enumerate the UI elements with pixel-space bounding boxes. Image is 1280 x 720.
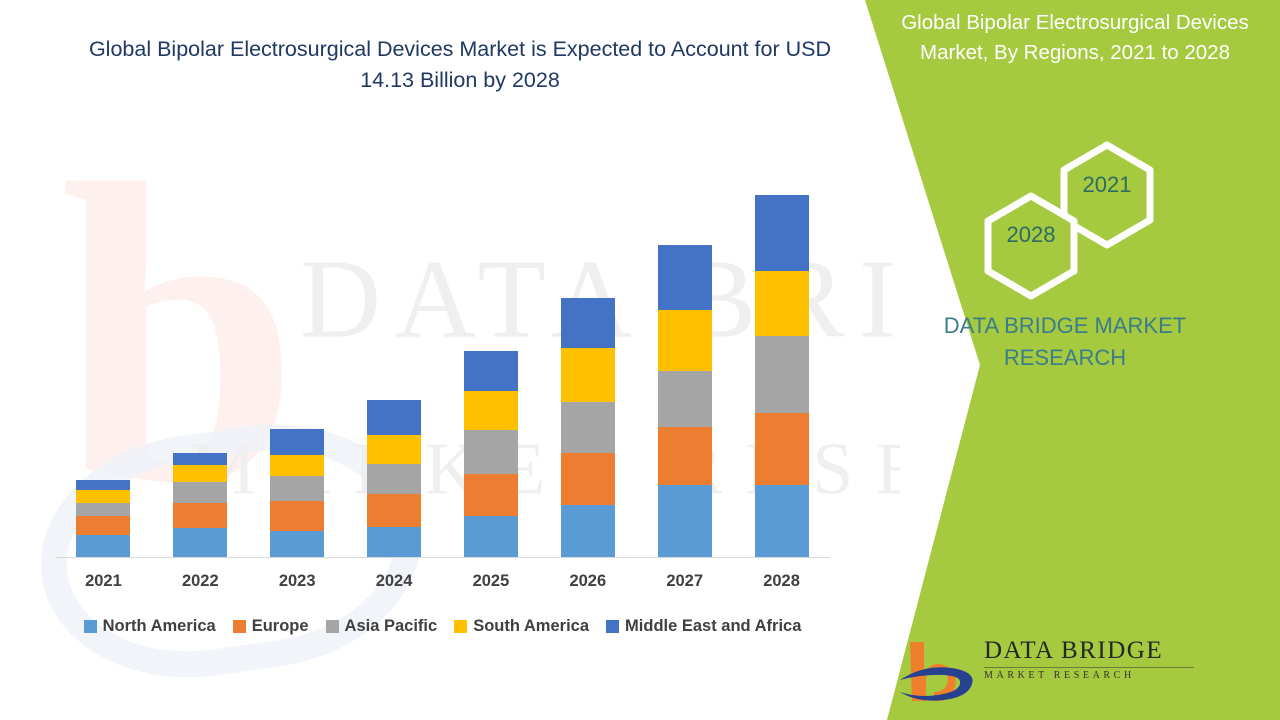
bar-slot xyxy=(249,183,346,557)
x-axis-tick-label: 2027 xyxy=(636,572,733,591)
bar-segment[interactable] xyxy=(561,505,615,558)
stacked-bar[interactable] xyxy=(464,351,518,557)
bar-slot xyxy=(152,183,249,557)
logo-divider xyxy=(984,667,1194,668)
bar-segment[interactable] xyxy=(561,402,615,453)
bar-slot xyxy=(733,183,830,557)
legend-swatch-icon xyxy=(326,620,339,633)
logo-main-text: DATA BRIDGE xyxy=(984,638,1194,664)
legend-item[interactable]: South America xyxy=(454,617,589,636)
x-axis-labels: 20212022202320242025202620272028 xyxy=(55,572,830,591)
bar-segment[interactable] xyxy=(658,310,712,371)
bar-segment[interactable] xyxy=(755,413,809,485)
stacked-bar-plot xyxy=(55,183,830,557)
bar-segment[interactable] xyxy=(561,348,615,403)
bar-segment[interactable] xyxy=(173,503,227,527)
bar-segment[interactable] xyxy=(76,480,130,490)
stacked-bar[interactable] xyxy=(561,298,615,557)
bar-segment[interactable] xyxy=(561,298,615,348)
x-axis-tick-label: 2023 xyxy=(249,572,346,591)
logo-mark-icon xyxy=(896,634,982,704)
bar-segment[interactable] xyxy=(270,429,324,454)
legend-swatch-icon xyxy=(84,620,97,633)
bar-segment[interactable] xyxy=(658,371,712,427)
x-axis-tick-label: 2021 xyxy=(55,572,152,591)
bar-segment[interactable] xyxy=(367,464,421,494)
bar-segment[interactable] xyxy=(658,427,712,485)
legend-swatch-icon xyxy=(233,620,246,633)
legend-label: Asia Pacific xyxy=(345,617,438,636)
logo-wordmark: DATA BRIDGE MARKET RESEARCH xyxy=(984,638,1194,681)
bar-segment[interactable] xyxy=(367,435,421,463)
legend-label: North America xyxy=(103,617,216,636)
bar-slot xyxy=(539,183,636,557)
bar-segment[interactable] xyxy=(658,485,712,557)
legend-item[interactable]: Middle East and Africa xyxy=(606,617,801,636)
legend-item[interactable]: Europe xyxy=(233,617,309,636)
bar-slot xyxy=(346,183,443,557)
bar-segment[interactable] xyxy=(76,503,130,517)
x-axis-line xyxy=(55,557,830,558)
bar-segment[interactable] xyxy=(76,516,130,534)
bar-segment[interactable] xyxy=(173,482,227,504)
hexagon-2028-label: 2028 xyxy=(986,222,1076,248)
legend-item[interactable]: North America xyxy=(84,617,216,636)
bar-segment[interactable] xyxy=(270,501,324,530)
stacked-bar[interactable] xyxy=(270,429,324,557)
x-axis-tick-label: 2022 xyxy=(152,572,249,591)
bar-segment[interactable] xyxy=(464,351,518,391)
legend-label: South America xyxy=(473,617,589,636)
bar-slot xyxy=(443,183,540,557)
chart-title: Global Bipolar Electrosurgical Devices M… xyxy=(60,34,860,95)
chart-legend: North AmericaEuropeAsia PacificSouth Ame… xyxy=(55,617,830,636)
legend-label: Middle East and Africa xyxy=(625,617,801,636)
stacked-bar[interactable] xyxy=(173,453,227,557)
logo-sub-text: MARKET RESEARCH xyxy=(984,670,1194,681)
bar-segment[interactable] xyxy=(270,476,324,501)
bar-segment[interactable] xyxy=(755,336,809,413)
legend-label: Europe xyxy=(252,617,309,636)
stacked-bar[interactable] xyxy=(755,195,809,557)
legend-swatch-icon xyxy=(454,620,467,633)
bar-segment[interactable] xyxy=(464,430,518,474)
data-bridge-logo: DATA BRIDGE MARKET RESEARCH xyxy=(896,634,1196,704)
bar-segment[interactable] xyxy=(755,271,809,336)
bar-segment[interactable] xyxy=(464,516,518,557)
x-axis-tick-label: 2025 xyxy=(443,572,540,591)
bar-segment[interactable] xyxy=(76,490,130,503)
stacked-bar[interactable] xyxy=(76,480,130,557)
hexagon-2021-label: 2021 xyxy=(1062,172,1152,198)
stacked-bar[interactable] xyxy=(367,400,421,557)
bar-segment[interactable] xyxy=(173,528,227,557)
bar-segment[interactable] xyxy=(367,400,421,435)
stacked-bar[interactable] xyxy=(658,245,712,557)
bar-segment[interactable] xyxy=(367,527,421,557)
bar-segment[interactable] xyxy=(76,535,130,557)
bar-segment[interactable] xyxy=(173,453,227,465)
bar-segment[interactable] xyxy=(755,195,809,271)
bar-segment[interactable] xyxy=(561,453,615,504)
x-axis-tick-label: 2024 xyxy=(346,572,443,591)
bar-segment[interactable] xyxy=(658,245,712,310)
legend-swatch-icon xyxy=(606,620,619,633)
bar-segment[interactable] xyxy=(755,485,809,557)
legend-item[interactable]: Asia Pacific xyxy=(326,617,438,636)
panel-brand-text: DATA BRIDGE MARKET RESEARCH xyxy=(880,310,1250,374)
x-axis-tick-label: 2028 xyxy=(733,572,830,591)
bar-segment[interactable] xyxy=(464,474,518,516)
right-panel-content: Global Bipolar Electrosurgical Devices M… xyxy=(840,0,1280,720)
bar-slot xyxy=(55,183,152,557)
bar-segment[interactable] xyxy=(367,494,421,527)
bar-segment[interactable] xyxy=(270,455,324,477)
bar-slot xyxy=(636,183,733,557)
bar-segment[interactable] xyxy=(173,465,227,482)
bar-segment[interactable] xyxy=(464,391,518,431)
bar-segment[interactable] xyxy=(270,531,324,557)
x-axis-tick-label: 2026 xyxy=(539,572,636,591)
